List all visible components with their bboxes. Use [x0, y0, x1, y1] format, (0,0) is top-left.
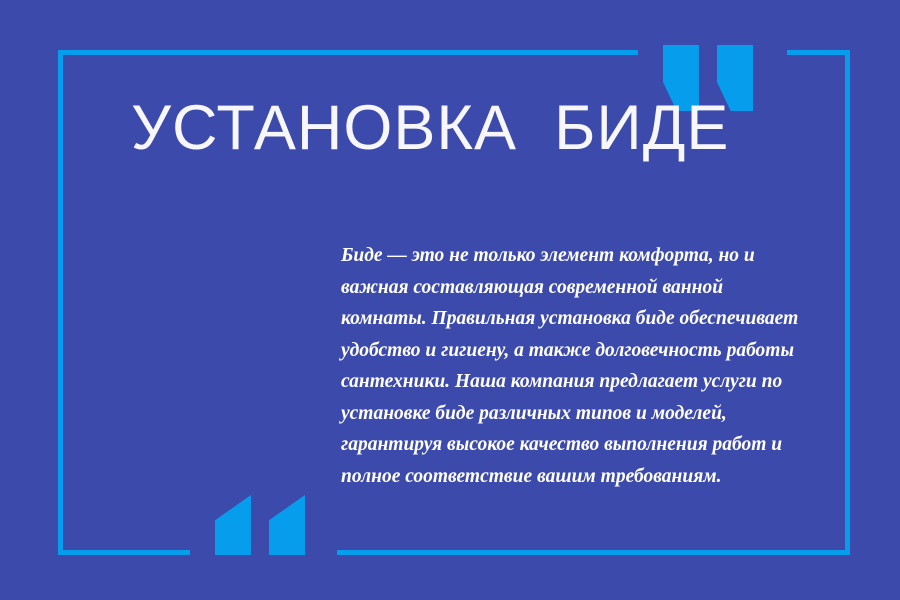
frame-right-segment — [845, 50, 850, 555]
quote-mark-opening-icon — [215, 495, 305, 555]
page-title: УСТАНОВКА БИДЕ — [131, 92, 729, 164]
frame-top-right-segment — [787, 50, 850, 55]
body-paragraph: Биде — это не только элемент комфорта, н… — [341, 240, 811, 492]
quote-mark-opening-stroke-2 — [269, 495, 305, 555]
frame-left-segment — [58, 50, 63, 555]
frame-top-left-segment — [58, 50, 638, 55]
quote-poster: УСТАНОВКА БИДЕ Биде — это не только элем… — [0, 0, 900, 600]
frame-bottom-left-segment — [58, 550, 190, 555]
frame-bottom-right-segment — [337, 550, 850, 555]
quote-mark-opening-stroke-1 — [215, 495, 251, 555]
